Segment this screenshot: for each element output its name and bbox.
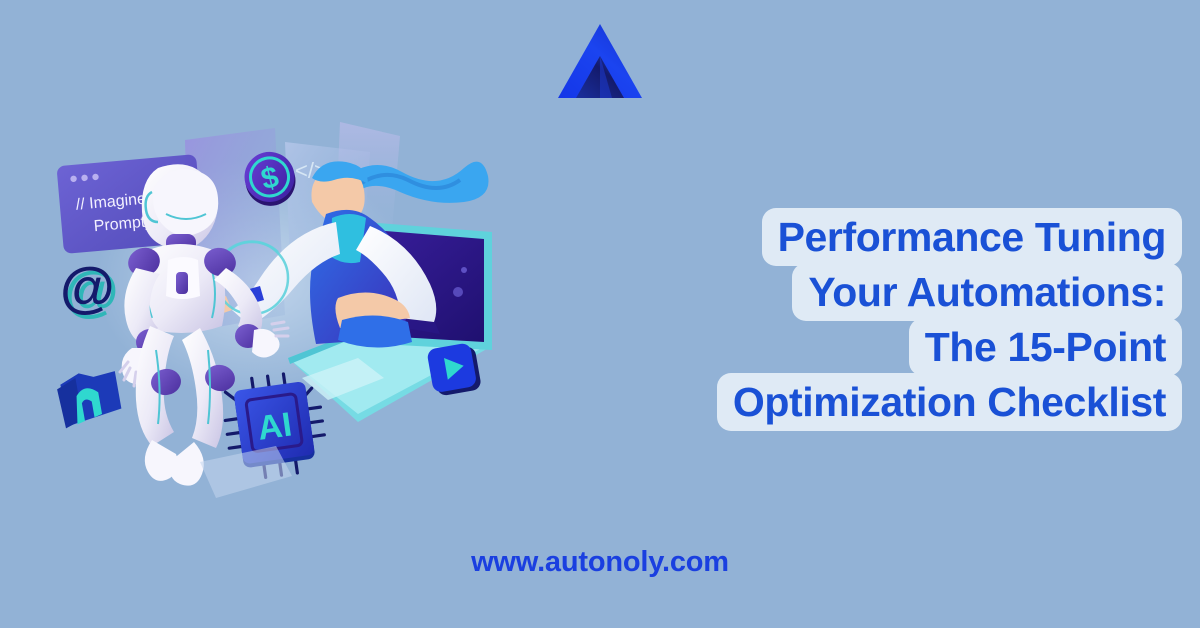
- floating-shard: [200, 446, 292, 498]
- title-line-3: The 15-Point: [909, 318, 1182, 376]
- autonoly-logo[interactable]: [556, 20, 644, 100]
- title-line-1: Performance Tuning: [762, 208, 1182, 266]
- site-url[interactable]: www.autonoly.com: [0, 546, 1200, 579]
- title-line-4: Optimization Checklist: [717, 373, 1182, 431]
- folder-icon: [55, 367, 123, 429]
- illustration-svg: // Imagine Prompt_ @ @ $ </>: [40, 110, 520, 530]
- svg-text:@: @: [60, 255, 115, 318]
- svg-text:AI: AI: [255, 405, 294, 447]
- title-line-2: Your Automations:: [792, 263, 1182, 321]
- page-title: Performance Tuning Your Automations: The…: [612, 208, 1182, 431]
- at-symbol-icon: @ @: [60, 255, 119, 322]
- logo-triangle-icon: [556, 20, 644, 100]
- ai-automation-illustration: // Imagine Prompt_ @ @ $ </>: [40, 110, 520, 530]
- play-button-icon: [426, 342, 482, 398]
- hero-banner: // Imagine Prompt_ @ @ $ </>: [0, 0, 1200, 628]
